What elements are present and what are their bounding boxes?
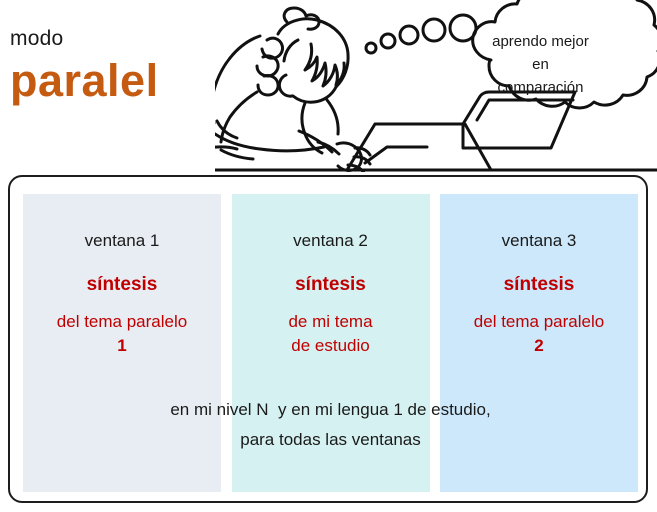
laptop-keyboard-path — [365, 147, 427, 163]
finger-3-path — [258, 75, 278, 95]
thought-dot-4 — [423, 19, 445, 41]
windows-columns: ventana 1 síntesis del tema paralelo 1 v… — [23, 194, 638, 492]
laptop-screen-inner-path — [477, 100, 573, 120]
window-1-detail-line-2: 1 — [23, 334, 221, 358]
window-2-label: ventana 2 — [232, 230, 430, 251]
finger-2-path — [257, 56, 278, 76]
window-column-3[interactable]: ventana 3 síntesis del tema paralelo 2 — [440, 194, 638, 492]
heading-block: modo paralel — [10, 26, 230, 106]
hair-fringe-path — [305, 44, 344, 86]
window-1-detail: del tema paralelo 1 — [23, 310, 221, 358]
window-1-title: síntesis — [23, 273, 221, 296]
bubble-line-3: comparación — [463, 76, 618, 99]
cheek-hand-path — [279, 75, 292, 96]
window-3-title: síntesis — [440, 273, 638, 296]
thought-dot-2 — [381, 34, 395, 48]
heading-modo: modo — [10, 26, 230, 52]
window-1-label: ventana 1 — [23, 230, 221, 251]
window-3-label: ventana 3 — [440, 230, 638, 251]
window-1-detail-line-1: del tema paralelo — [23, 310, 221, 334]
bubble-line-2: en — [463, 53, 618, 76]
forearm-lower-path — [221, 150, 253, 159]
arm-inner-path — [221, 92, 257, 142]
window-3-detail-line-2: 2 — [440, 334, 638, 358]
torso-path — [302, 103, 322, 153]
window-2-detail-line-1: de mi tema — [232, 310, 430, 334]
thought-bubble-text: aprendo mejor en comparación — [463, 30, 618, 99]
thought-dot-3 — [400, 26, 418, 44]
bubble-line-1: aprendo mejor — [463, 30, 618, 53]
diagram-canvas: modo paralel — [0, 0, 657, 512]
windows-panel: ventana 1 síntesis del tema paralelo 1 v… — [8, 175, 648, 503]
hair-side-path — [284, 40, 298, 61]
arm-upper-path — [215, 58, 230, 123]
window-3-detail-line-1: del tema paralelo — [440, 310, 638, 334]
shoulder-path — [327, 100, 338, 134]
window-2-title: síntesis — [232, 273, 430, 296]
window-3-detail: del tema paralelo 2 — [440, 310, 638, 358]
window-2-detail-line-2: de estudio — [232, 334, 430, 358]
heading-paralel: paralel — [10, 56, 230, 106]
thumb-path — [230, 36, 260, 58]
thought-dot-1 — [366, 43, 376, 53]
window-column-1[interactable]: ventana 1 síntesis del tema paralelo 1 — [23, 194, 221, 492]
window-2-detail: de mi tema de estudio — [232, 310, 430, 358]
window-column-2[interactable]: ventana 2 síntesis de mi tema de estudio — [232, 194, 430, 492]
face-jaw-path — [293, 87, 336, 102]
